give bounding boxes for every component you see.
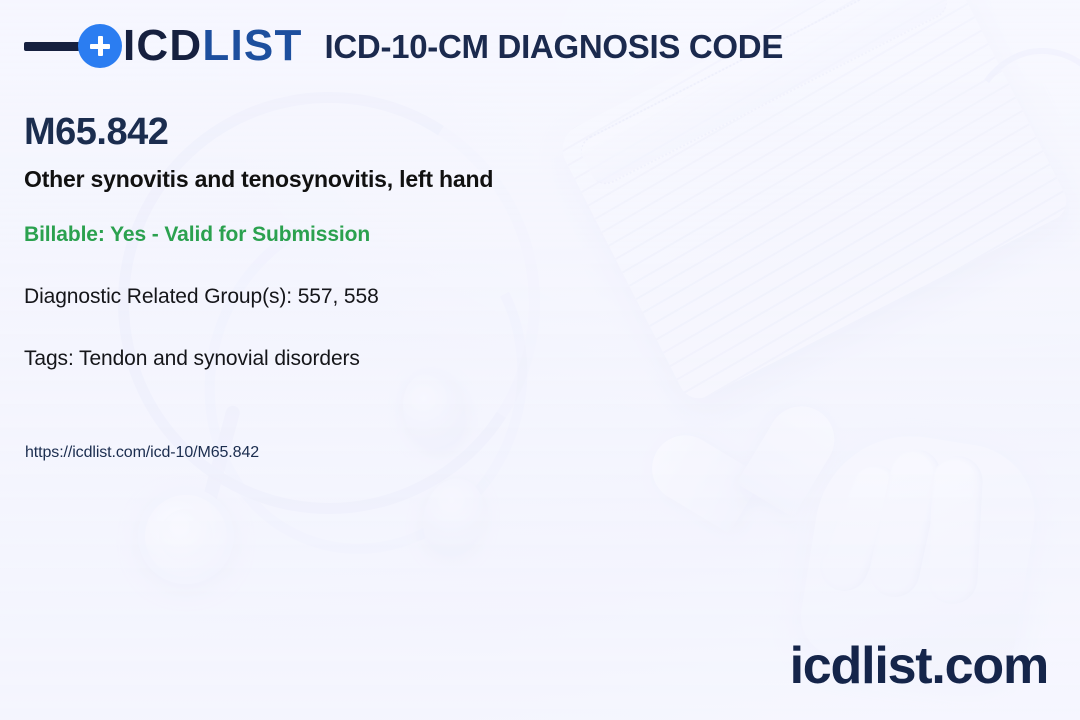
logo-wordmark: ICDLIST	[123, 24, 303, 68]
icd-code-card: ICDLIST ICD-10-CM DIAGNOSIS CODE M65.842…	[0, 0, 1080, 720]
diagnosis-description: Other synovitis and tenosynovitis, left …	[24, 166, 493, 193]
card-header: ICDLIST ICD-10-CM DIAGNOSIS CODE	[24, 24, 783, 68]
diagnostic-related-groups: Diagnostic Related Group(s): 557, 558	[24, 285, 379, 309]
source-url[interactable]: https://icdlist.com/icd-10/M65.842	[25, 444, 259, 462]
dash-icon	[24, 42, 80, 51]
tags-line: Tags: Tendon and synovial disorders	[24, 347, 360, 371]
card-content: ICDLIST ICD-10-CM DIAGNOSIS CODE M65.842…	[0, 0, 1080, 720]
plus-circle-icon	[78, 24, 122, 68]
logo-word-icd: ICD	[123, 21, 202, 70]
page-title: ICD-10-CM DIAGNOSIS CODE	[325, 28, 784, 66]
icdlist-logo[interactable]: ICDLIST	[24, 24, 303, 68]
diagnosis-code: M65.842	[24, 112, 168, 154]
plus-vertical-bar	[98, 36, 103, 56]
site-brand: icdlist.com	[790, 640, 1048, 692]
logo-word-list: LIST	[202, 21, 302, 70]
billable-status-badge: Billable: Yes - Valid for Submission	[24, 223, 370, 247]
